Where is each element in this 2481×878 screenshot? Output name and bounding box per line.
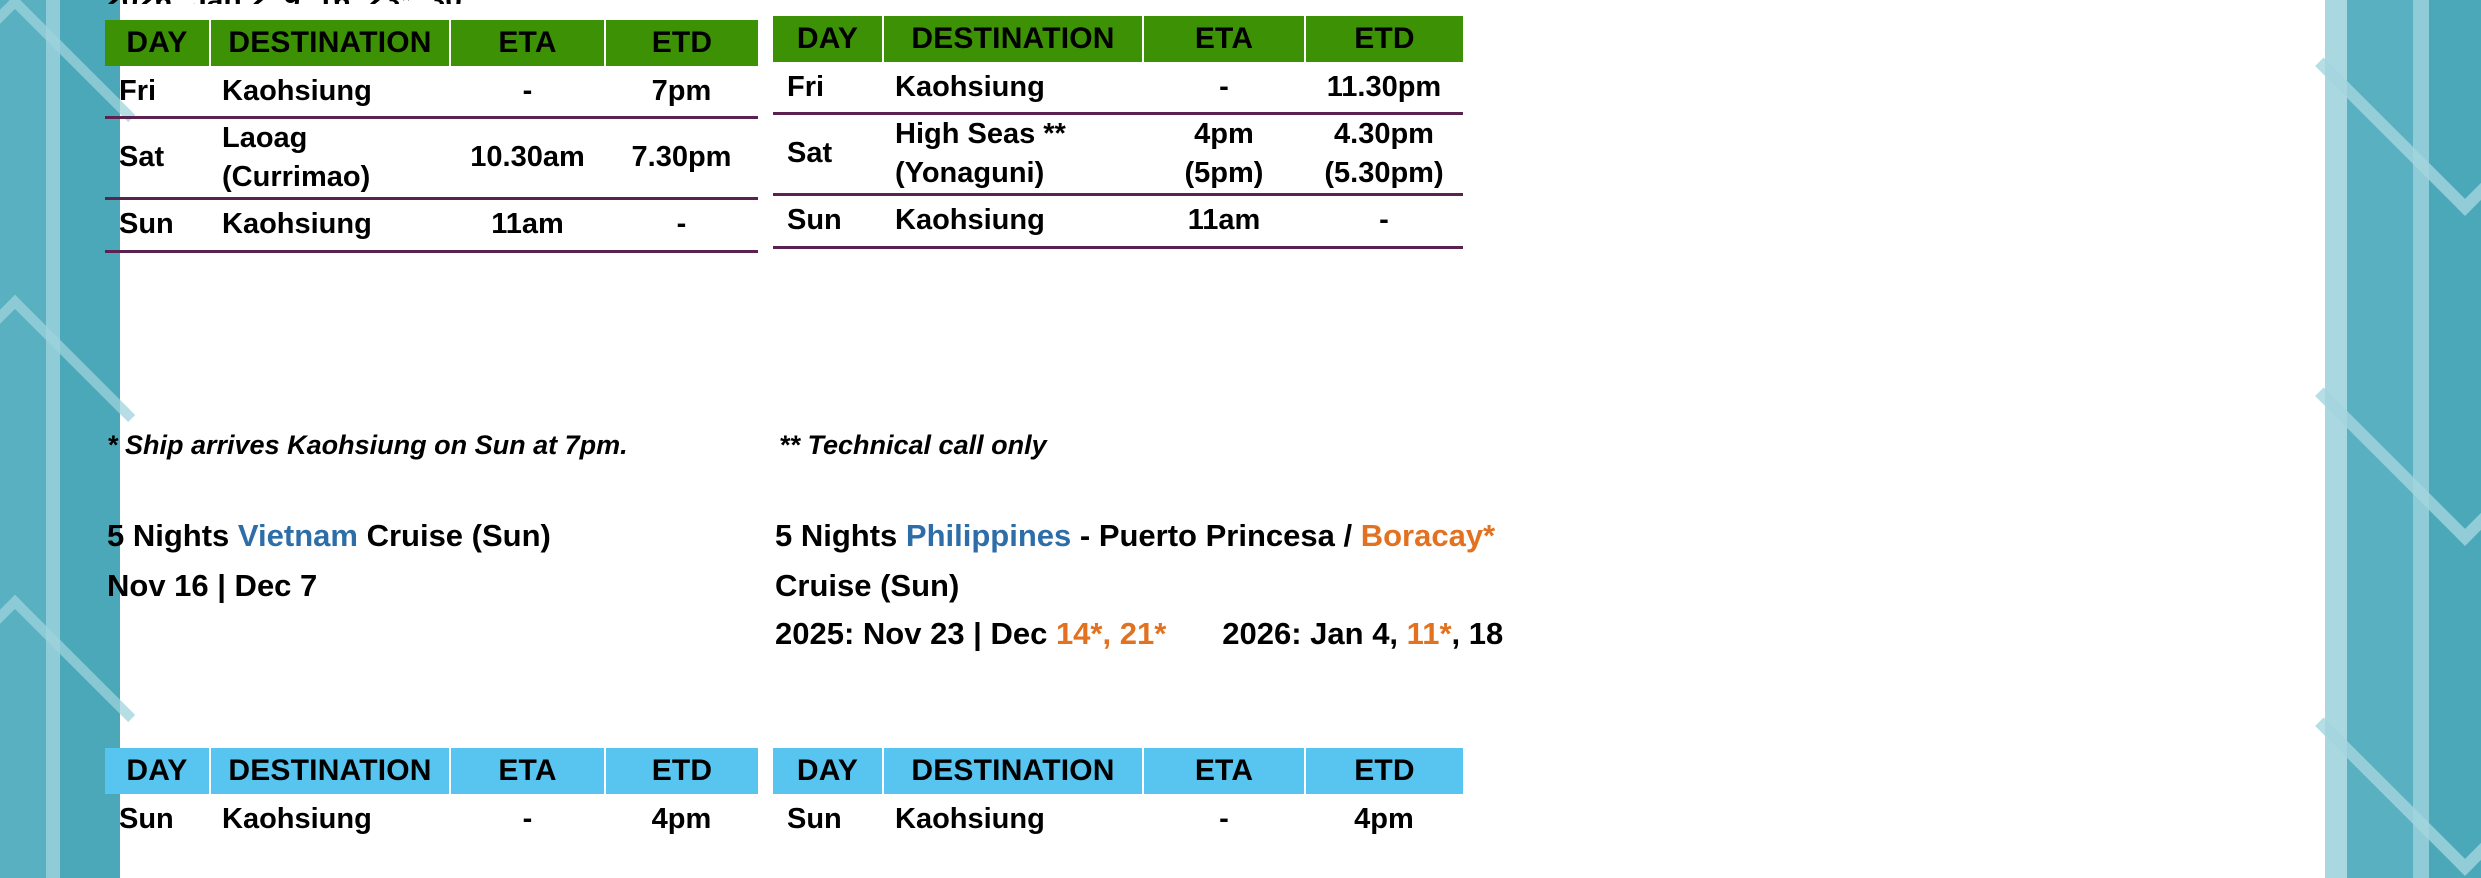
table-row: Sat Laoag (Currimao) 10.30am 7.30pm [105,118,758,199]
col-header-destination: DESTINATION [883,16,1143,62]
table-row: Sat High Seas ** (Yonaguni) 4pm (5pm) 4.… [773,114,1463,195]
col-header-eta: ETA [1143,748,1305,794]
left-footnote: * Ship arrives Kaohsiung on Sun at 7pm. [107,430,628,461]
right-cruise-title: 5 Nights Philippines - Puerto Princesa /… [775,518,1495,554]
col-header-etd: ETD [1305,16,1463,62]
col-header-eta: ETA [450,20,605,66]
col-header-etd: ETD [1305,748,1463,794]
right-green-schedule-table: DAY DESTINATION ETA ETD Fri Kaohsiung - … [773,16,1463,249]
cell-etd: 11.30pm [1305,62,1463,114]
right-cruise-title-run-1: Philippines [906,518,1071,553]
cell-eta: - [450,794,605,844]
cell-etd: 7.30pm [605,118,758,199]
cell-destination: Kaohsiung [210,66,450,118]
right-cruise-title-run-0: 5 Nights [775,518,906,553]
col-header-etd: ETD [605,748,758,794]
col-header-day: DAY [105,20,210,66]
right-cruise-dates-run-4: 11* [1407,616,1452,651]
cell-etd: 4pm [605,794,758,844]
slide-canvas: 2026: Jan 2, 9, 16, 23*, 30 DAY DESTINAT… [0,0,2481,878]
col-header-destination: DESTINATION [210,20,450,66]
cell-etd-line1: 4.30pm [1334,118,1434,150]
right-footnote: ** Technical call only [779,430,1047,461]
right-cruise-title-run-2: - Puerto Princesa / [1071,518,1360,553]
cell-day: Sun [773,194,883,247]
right-cruise-title2-run-0: Cruise (Sun) [775,568,959,603]
cell-destination: High Seas ** (Yonaguni) [883,114,1143,195]
clipped-previous-dates-line: 2026: Jan 2, 9, 16, 23*, 30 [105,0,765,4]
left-cruise-dates-run-0: Nov 16 | Dec 7 [107,568,317,603]
cell-eta: - [450,66,605,118]
table-row: Fri Kaohsiung - 11.30pm [773,62,1463,114]
left-cruise-title: 5 Nights Vietnam Cruise (Sun) [107,518,551,554]
cell-destination: Laoag (Currimao) [210,118,450,199]
cell-eta: - [1143,794,1305,844]
right-cruise-dates-run-1: 14*, 21* [1056,616,1166,651]
cell-etd: 4pm [1305,794,1463,844]
cell-day: Sat [773,114,883,195]
left-cruise-title-run-1: Vietnam [238,518,358,553]
col-header-destination: DESTINATION [210,748,450,794]
cell-day: Sun [105,794,210,844]
cell-day: Sat [105,118,210,199]
cell-destination: Kaohsiung [210,198,450,251]
cell-day: Fri [105,66,210,118]
col-header-eta: ETA [450,748,605,794]
col-header-day: DAY [773,16,883,62]
cell-day: Sun [105,198,210,251]
right-cruise-dates-run-5: , 18 [1452,616,1504,651]
cell-etd-line2: (5.30pm) [1305,154,1463,193]
cell-destination-line2: (Yonaguni) [895,154,1143,193]
table-header-row: DAY DESTINATION ETA ETD [105,20,758,66]
cell-destination-line1: High Seas ** [895,118,1066,150]
col-header-eta: ETA [1143,16,1305,62]
right-cruise-dates: 2025: Nov 23 | Dec 14*, 21*2026: Jan 4, … [775,616,1503,652]
table-row: Sun Kaohsiung 11am - [773,194,1463,247]
left-cruise-dates: Nov 16 | Dec 7 [107,568,317,604]
cell-eta: 4pm (5pm) [1143,114,1305,195]
cell-eta-line2: (5pm) [1143,154,1305,193]
cell-destination: Kaohsiung [210,794,450,844]
cell-etd: 7pm [605,66,758,118]
cell-etd: - [1305,194,1463,247]
cell-day: Fri [773,62,883,114]
right-blue-schedule-table: DAY DESTINATION ETA ETD Sun Kaohsiung - … [773,748,1463,844]
right-cruise-dates-run-0: 2025: Nov 23 | Dec [775,616,1056,651]
right-cruise-dates-run-3: 2026: Jan 4, [1222,616,1406,651]
col-header-day: DAY [773,748,883,794]
table-header-row: DAY DESTINATION ETA ETD [773,16,1463,62]
cell-etd: 4.30pm (5.30pm) [1305,114,1463,195]
cell-destination: Kaohsiung [883,194,1143,247]
cell-destination-line2: (Currimao) [222,158,450,197]
col-header-etd: ETD [605,20,758,66]
left-cruise-title-run-0: 5 Nights [107,518,238,553]
cell-destination-line1: Laoag [222,122,307,154]
table-row: Sun Kaohsiung 11am - [105,198,758,251]
table-header-row: DAY DESTINATION ETA ETD [773,748,1463,794]
cell-eta: - [1143,62,1305,114]
cell-destination: Kaohsiung [883,794,1143,844]
left-blue-schedule-table: DAY DESTINATION ETA ETD Sun Kaohsiung - … [105,748,758,844]
left-cruise-title-run-2: Cruise (Sun) [358,518,551,553]
table-row: Sun Kaohsiung - 4pm [773,794,1463,844]
table-row: Fri Kaohsiung - 7pm [105,66,758,118]
cell-eta: 10.30am [450,118,605,199]
left-green-schedule-table: DAY DESTINATION ETA ETD Fri Kaohsiung - … [105,20,758,253]
cell-destination: Kaohsiung [883,62,1143,114]
col-header-destination: DESTINATION [883,748,1143,794]
cell-day: Sun [773,794,883,844]
table-header-row: DAY DESTINATION ETA ETD [105,748,758,794]
col-header-day: DAY [105,748,210,794]
right-cruise-title-line2: Cruise (Sun) [775,568,959,604]
cell-etd: - [605,198,758,251]
cell-eta: 11am [450,198,605,251]
table-row: Sun Kaohsiung - 4pm [105,794,758,844]
cell-eta-line1: 4pm [1194,118,1254,150]
cell-eta: 11am [1143,194,1305,247]
right-cruise-title-run-3: Boracay* [1361,518,1495,553]
